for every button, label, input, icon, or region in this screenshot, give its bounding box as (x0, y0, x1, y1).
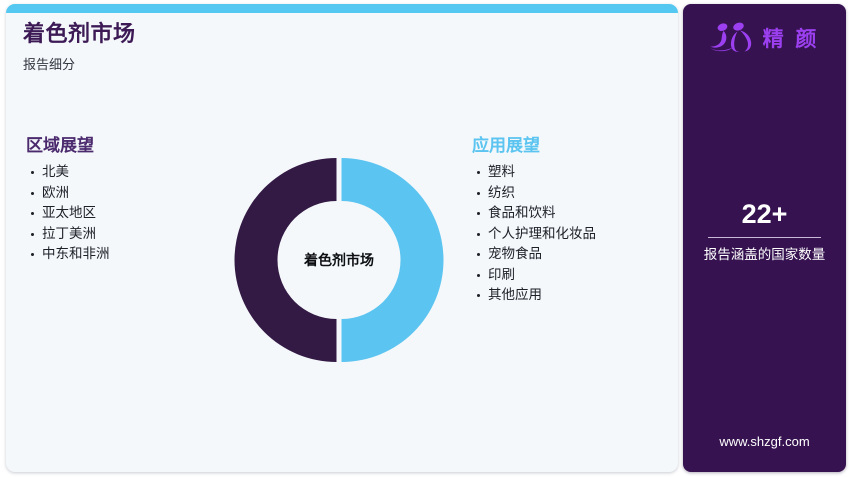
list-item: 印刷 (472, 265, 677, 286)
brand-logo: 精 颜 (683, 22, 846, 57)
donut-chart-svg (224, 145, 454, 375)
page-subtitle: 报告细分 (23, 54, 136, 73)
donut-segment-regional (235, 158, 337, 362)
brand-panel: 精 颜 22+ 报告涵盖的国家数量 www.shzgf.com (683, 4, 846, 472)
content-card: 着色剂市场 报告细分 区域展望 北美 欧洲 亚太地区 拉丁美洲 中东和非洲 应用… (6, 4, 678, 472)
stat-value: 22+ (683, 200, 846, 228)
donut-chart: 着色剂市场 (224, 145, 454, 375)
list-item: 欧洲 (26, 183, 216, 204)
donut-segment-application (342, 158, 444, 362)
regional-outlook-list: 北美 欧洲 亚太地区 拉丁美洲 中东和非洲 (26, 162, 216, 265)
list-item: 食品和饮料 (472, 203, 677, 224)
website-url: www.shzgf.com (683, 434, 846, 449)
list-item: 个人护理和化妆品 (472, 224, 677, 245)
list-item: 纺织 (472, 183, 677, 204)
application-outlook-list: 塑料 纺织 食品和饮料 个人护理和化妆品 宠物食品 印刷 其他应用 (472, 162, 677, 306)
top-accent-bar (6, 4, 678, 13)
list-item: 拉丁美洲 (26, 224, 216, 245)
list-item: 亚太地区 (26, 203, 216, 224)
list-item: 北美 (26, 162, 216, 183)
country-count-stat: 22+ 报告涵盖的国家数量 (683, 200, 846, 264)
application-outlook-heading: 应用展望 (472, 135, 677, 156)
list-item: 宠物食品 (472, 244, 677, 265)
stat-label: 报告涵盖的国家数量 (683, 246, 846, 264)
stat-divider (708, 237, 821, 238)
list-item: 中东和非洲 (26, 244, 216, 265)
title-block: 着色剂市场 报告细分 (23, 21, 136, 73)
page-title: 着色剂市场 (23, 21, 136, 47)
list-item: 其他应用 (472, 285, 677, 306)
application-outlook-section: 应用展望 塑料 纺织 食品和饮料 个人护理和化妆品 宠物食品 印刷 其他应用 (472, 135, 677, 306)
regional-outlook-section: 区域展望 北美 欧洲 亚太地区 拉丁美洲 中东和非洲 (26, 135, 216, 265)
slide-root: 着色剂市场 报告细分 区域展望 北美 欧洲 亚太地区 拉丁美洲 中东和非洲 应用… (0, 0, 850, 478)
jc-figure-logo-icon (710, 22, 756, 57)
list-item: 塑料 (472, 162, 677, 183)
brand-logo-text: 精 颜 (763, 29, 820, 50)
regional-outlook-heading: 区域展望 (26, 135, 216, 156)
